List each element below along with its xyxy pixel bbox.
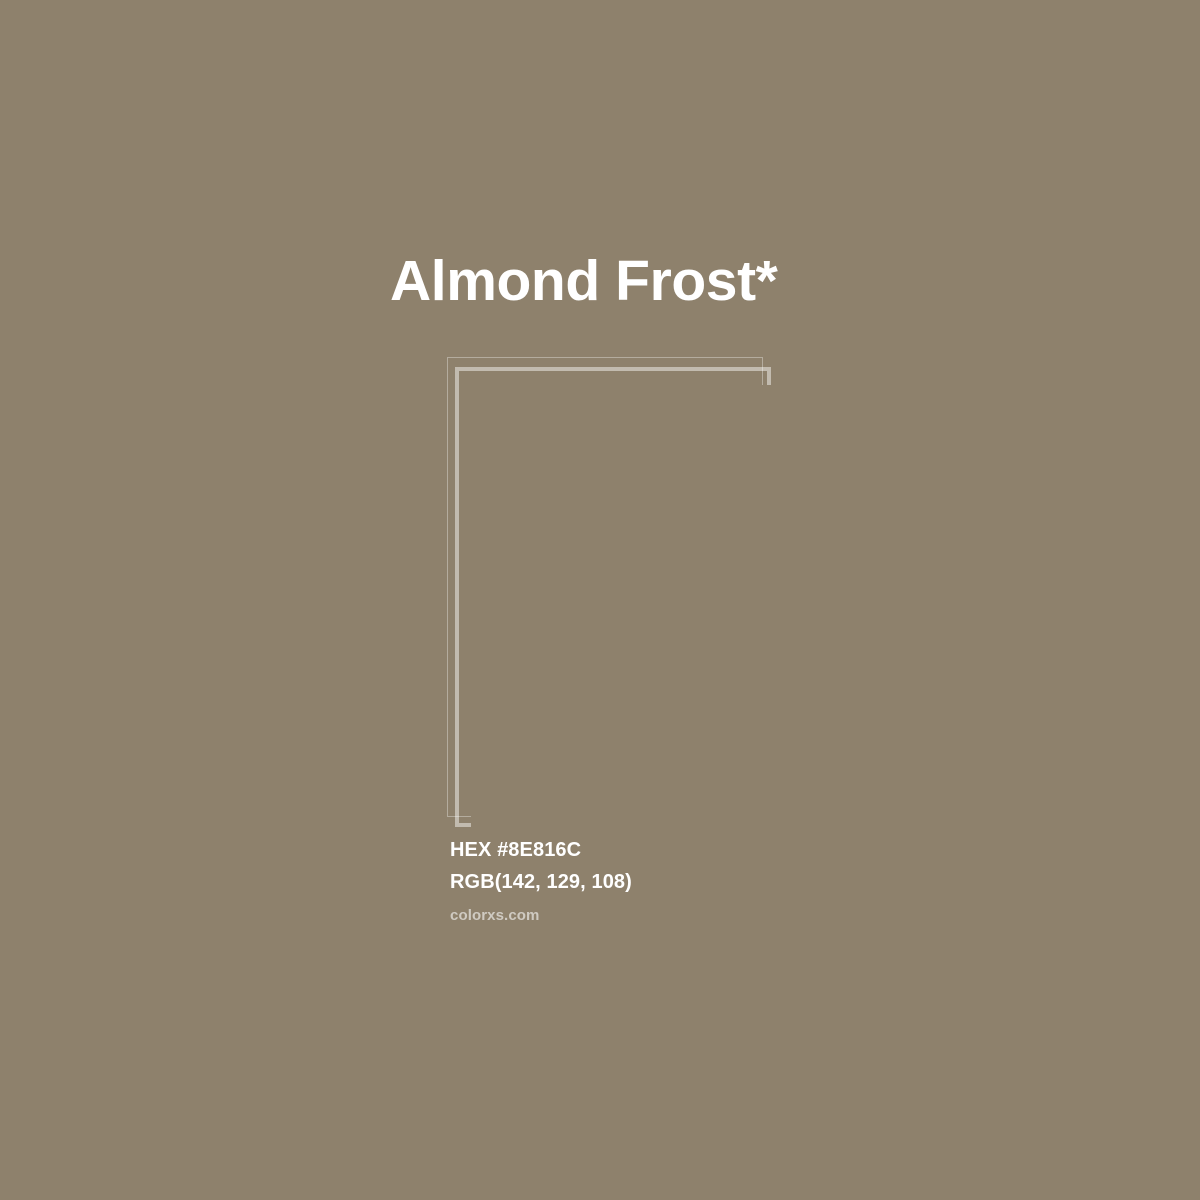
site-credit-label: colorxs.com — [450, 898, 970, 926]
color-swatch-page: Almond Frost* HEX #8E816C RGB(142, 129, … — [0, 0, 1200, 1200]
hex-value-label: HEX #8E816C — [450, 834, 970, 866]
color-swatch-fill — [471, 385, 779, 837]
color-swatch-card — [447, 357, 763, 817]
swatch-inner-frame — [455, 367, 771, 827]
page-title: Almond Frost* — [390, 247, 777, 315]
rgb-value-label: RGB(142, 129, 108) — [450, 866, 970, 898]
color-info-block: HEX #8E816C RGB(142, 129, 108) colorxs.c… — [450, 834, 970, 926]
